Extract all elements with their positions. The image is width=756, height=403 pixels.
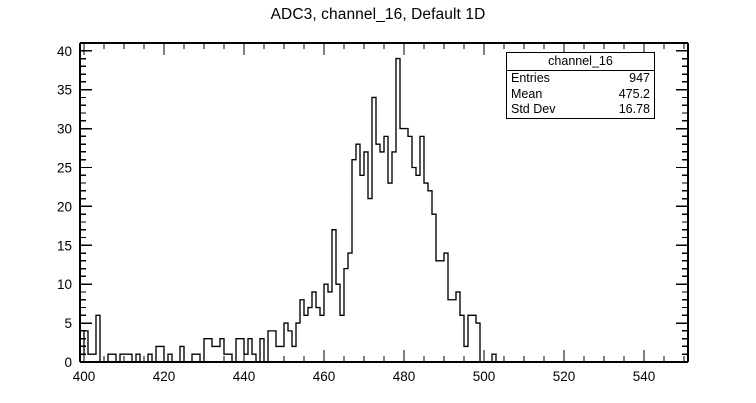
- x-tick-label: 520: [553, 369, 576, 384]
- y-tick-label: 20: [57, 199, 72, 214]
- y-tick-label: 0: [64, 355, 72, 370]
- stats-label-entries: Entries: [511, 71, 550, 87]
- stats-box-title: channel_16: [507, 53, 654, 71]
- y-tick-label: 40: [57, 44, 72, 59]
- y-tick-label: 30: [57, 122, 72, 137]
- root-canvas: ADC3, channel_16, Default 1D 05101520253…: [0, 0, 756, 403]
- x-tick-label: 540: [633, 369, 656, 384]
- stats-value-stddev: 16.78: [619, 102, 650, 118]
- y-tick-label: 5: [64, 316, 72, 331]
- y-tick-label: 35: [57, 83, 72, 98]
- histogram-outline: [80, 59, 508, 362]
- stats-label-stddev: Std Dev: [511, 102, 555, 118]
- x-tick-label: 400: [73, 369, 96, 384]
- stats-row-entries: Entries 947: [507, 71, 654, 87]
- stats-label-mean: Mean: [511, 87, 542, 103]
- y-tick-label: 10: [57, 277, 72, 292]
- x-tick-label: 500: [473, 369, 496, 384]
- x-tick-label: 440: [233, 369, 256, 384]
- stats-box: channel_16 Entries 947 Mean 475.2 Std De…: [506, 52, 655, 119]
- stats-value-entries: 947: [629, 71, 650, 87]
- stats-value-mean: 475.2: [619, 87, 650, 103]
- x-tick-label: 480: [393, 369, 416, 384]
- x-tick-label: 420: [153, 369, 176, 384]
- y-tick-label: 15: [57, 238, 72, 253]
- y-tick-label: 25: [57, 160, 72, 175]
- stats-row-mean: Mean 475.2: [507, 87, 654, 103]
- stats-row-stddev: Std Dev 16.78: [507, 102, 654, 118]
- x-tick-label: 460: [313, 369, 336, 384]
